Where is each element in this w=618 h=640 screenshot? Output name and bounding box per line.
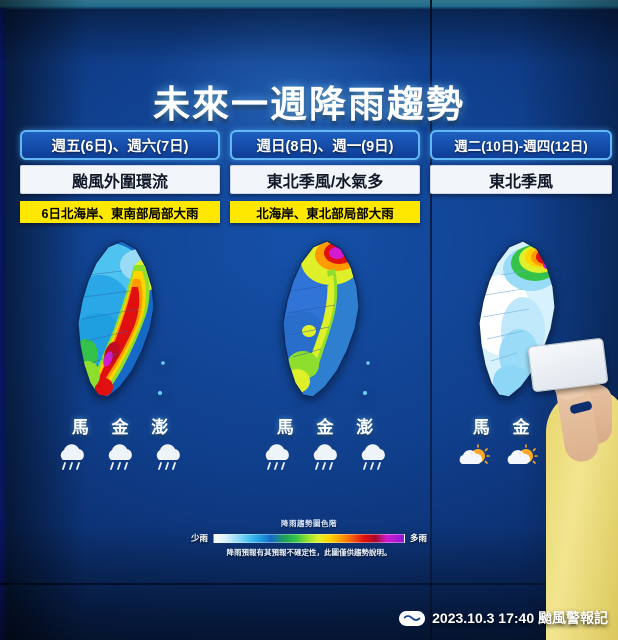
legend-scale-row: 少雨 多雨 — [0, 532, 618, 544]
rain-warning-1: 6日北海岸、東南部局部大雨 — [20, 201, 220, 223]
island-weather-icons-1 — [20, 443, 220, 473]
forecast-column-1: 週五(6日)、週六(7日) 颱風外圍環流 6日北海岸、東南部局部大雨 — [20, 130, 220, 473]
offshore-island-2 — [559, 391, 563, 395]
offshore-island-1 — [366, 361, 370, 365]
broadcast-bug: 2023.10.3 17:40 颱風警報記 — [399, 608, 608, 628]
taiwan-rainfall-map-3[interactable] — [430, 235, 612, 405]
rain-warning-3 — [430, 201, 612, 223]
sun-behind-cloud-icon — [550, 443, 588, 473]
tvbs-logo-icon — [399, 611, 425, 626]
broadcast-screen: 未來一週降雨趨勢 週五(6日)、週六(7日) 颱風外圍環流 6日北海岸、東南部局… — [0, 0, 618, 640]
rain-cloud-icon — [149, 443, 187, 473]
forecast-column-3: 週二(10日)-週四(12日) 東北季風 — [430, 130, 612, 473]
day-tab-3[interactable]: 週二(10日)-週四(12日) — [430, 130, 612, 160]
rainfall-legend: 降雨趨勢圖色階 少雨 多雨 降雨預報有其預報不確定性，此圖僅供趨勢說明。 — [0, 518, 618, 558]
rain-cloud-icon — [101, 443, 139, 473]
taiwan-rainfall-map-2[interactable] — [230, 235, 420, 405]
rain-cloud-icon — [306, 443, 344, 473]
legend-high-label: 多雨 — [410, 532, 427, 544]
offshore-island-2 — [158, 391, 162, 395]
offshore-island-1 — [562, 361, 566, 365]
weather-description-2: 東北季風/水氣多 — [230, 165, 420, 194]
day-tab-2[interactable]: 週日(8日)、週一(9日) — [230, 130, 420, 160]
islands-label-2: 馬 金 澎 — [230, 413, 420, 438]
rain-cloud-icon — [258, 443, 296, 473]
weather-description-3: 東北季風 — [430, 165, 612, 194]
island-weather-icons-2 — [230, 443, 420, 473]
forecast-columns: 週五(6日)、週六(7日) 颱風外圍環流 6日北海岸、東南部局部大雨 — [6, 130, 612, 490]
sun-behind-cloud-icon — [454, 443, 492, 473]
day-tab-1[interactable]: 週五(6日)、週六(7日) — [20, 130, 220, 160]
offshore-island-1 — [161, 361, 165, 365]
rain-warning-2: 北海岸、東北部局部大雨 — [230, 201, 420, 223]
weather-description-1: 颱風外圍環流 — [20, 165, 220, 194]
island-weather-icons-3 — [430, 443, 612, 473]
islands-label-1: 馬 金 澎 — [20, 413, 220, 438]
legend-title: 降雨趨勢圖色階 — [0, 518, 618, 529]
forecast-column-2: 週日(8日)、週一(9日) 東北季風/水氣多 北海岸、東北部局部大雨 — [230, 130, 420, 473]
offshore-island-2 — [363, 391, 367, 395]
sun-behind-cloud-icon — [502, 443, 540, 473]
legend-color-bar — [213, 534, 405, 543]
taiwan-rainfall-map-1[interactable] — [20, 235, 220, 405]
rain-cloud-icon — [354, 443, 392, 473]
rain-cloud-icon — [53, 443, 91, 473]
islands-label-3: 馬 金 澎 — [430, 413, 612, 438]
timestamp-label: 2023.10.3 17:40 颱風警報記 — [432, 608, 608, 628]
legend-low-label: 少雨 — [191, 532, 208, 544]
legend-disclaimer: 降雨預報有其預報不確定性，此圖僅供趨勢說明。 — [0, 547, 618, 558]
page-title: 未來一週降雨趨勢 — [0, 74, 618, 128]
